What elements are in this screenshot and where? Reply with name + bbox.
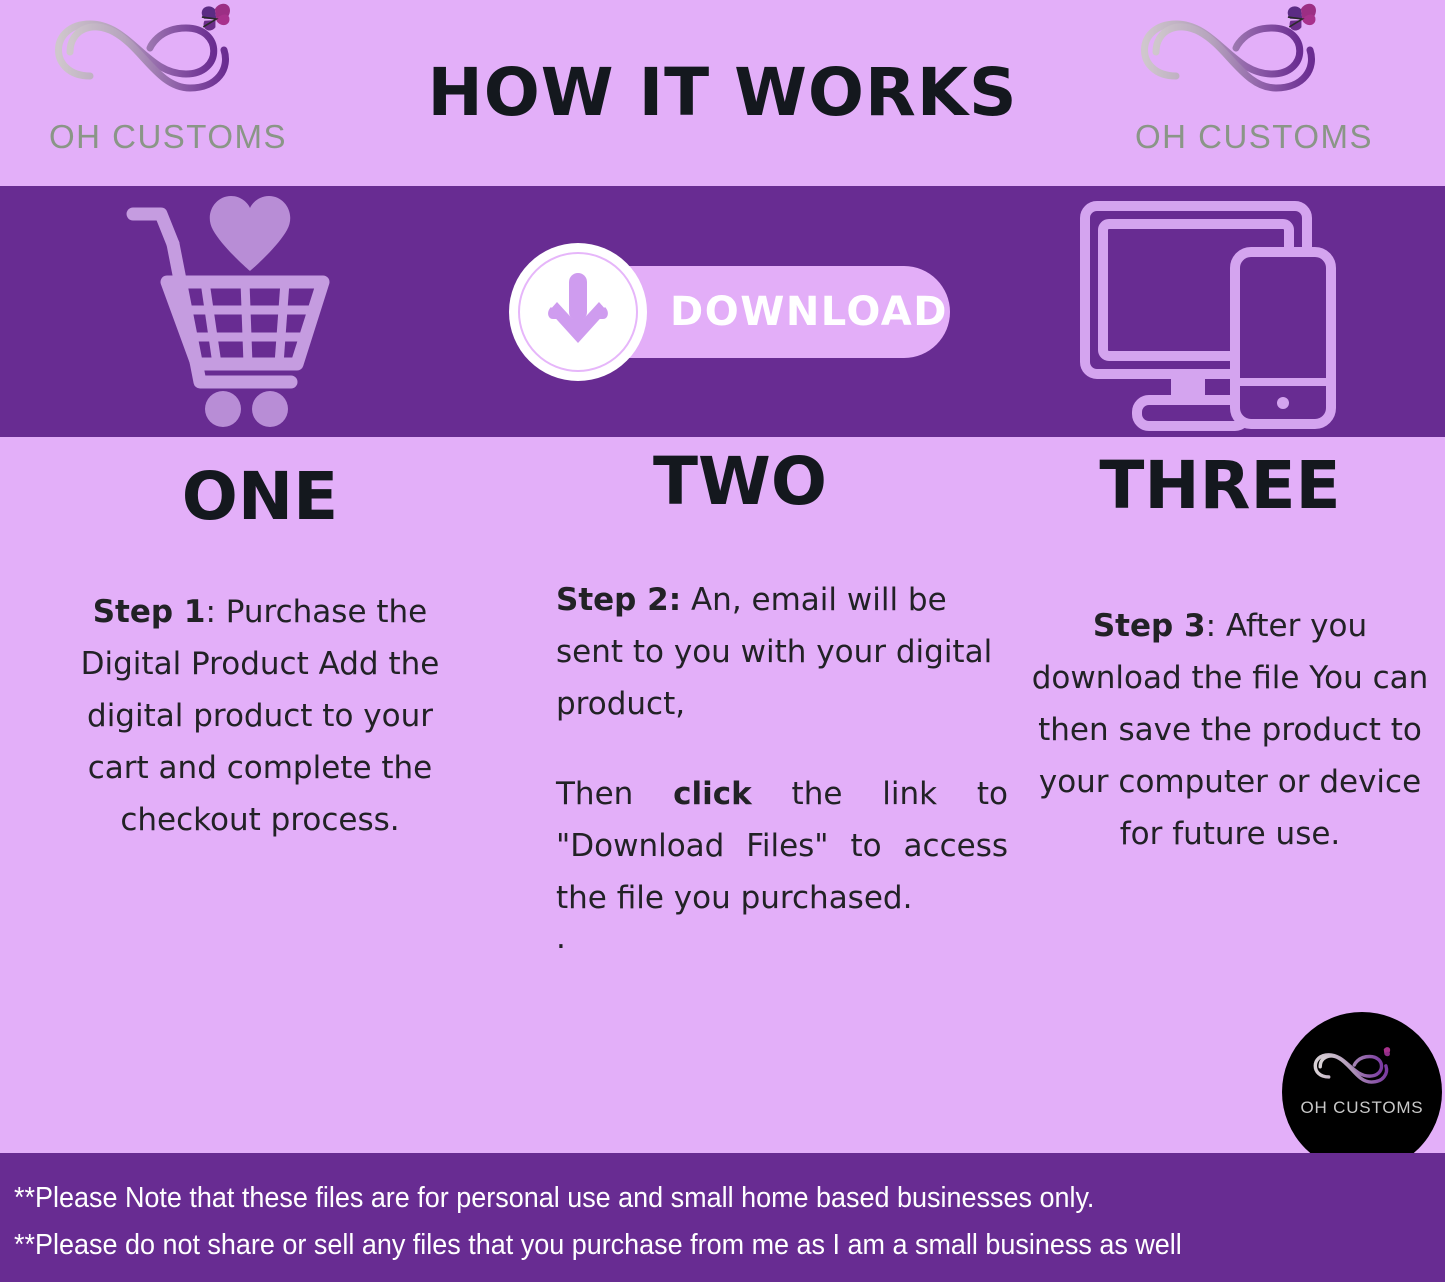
infinity-logo-icon bbox=[1104, 2, 1404, 122]
cart-icon-holder bbox=[105, 186, 395, 437]
infinity-logo-icon bbox=[1298, 1042, 1426, 1100]
step-one-body: Step 1: Purchase the Digital Product Add… bbox=[55, 586, 465, 846]
step-three-label: Step 3 bbox=[1093, 608, 1206, 644]
step-three-body: Step 3: After you download the file You … bbox=[1030, 600, 1430, 860]
footer-note-line-2: **Please do not share or sell any files … bbox=[14, 1229, 1335, 1262]
step-three-text: : After you download the file You can th… bbox=[1032, 608, 1429, 852]
step-two-trailing-dot: . bbox=[556, 920, 566, 956]
step-number-two: TWO bbox=[540, 443, 940, 520]
shopping-cart-heart-icon bbox=[105, 186, 395, 437]
header-band: OH CUSTOMS HOW IT WORKS bbox=[0, 0, 1445, 186]
footer-band: **Please Note that these files are for p… bbox=[0, 1153, 1445, 1282]
step-two-label: Step 2: bbox=[556, 582, 681, 618]
step-one-text: : Purchase the Digital Product Add the d… bbox=[81, 594, 440, 838]
step-one-label: Step 1 bbox=[93, 594, 206, 630]
step-two-paragraph-three: . bbox=[556, 912, 1008, 964]
download-button-holder: DOWNLOAD bbox=[505, 186, 955, 437]
logo-right: OH CUSTOMS bbox=[1104, 2, 1404, 177]
step-two-para2-pre: Then bbox=[556, 776, 673, 812]
brand-badge: OH CUSTOMS bbox=[1282, 1012, 1442, 1172]
footer-note-line-1: **Please Note that these files are for p… bbox=[14, 1182, 1335, 1215]
step-two-paragraph-two: Then click the link to "Download Files" … bbox=[556, 768, 1008, 924]
download-arrow-icon bbox=[543, 271, 613, 353]
step-number-three: THREE bbox=[1020, 447, 1420, 524]
download-button-label: DOWNLOAD bbox=[670, 266, 940, 358]
badge-text: OH CUSTOMS bbox=[1282, 1098, 1442, 1118]
step-number-one: ONE bbox=[60, 458, 460, 535]
download-circle[interactable] bbox=[509, 243, 647, 381]
monitor-and-phone-icon bbox=[1075, 186, 1355, 437]
device-icon-holder bbox=[1075, 186, 1355, 437]
infographic-page: OH CUSTOMS HOW IT WORKS bbox=[0, 0, 1445, 1282]
step-two-click-emphasis: click bbox=[673, 776, 752, 812]
logo-right-text: OH CUSTOMS bbox=[1104, 118, 1404, 156]
step-two-paragraph-one: Step 2: An, email will be sent to you wi… bbox=[556, 574, 1008, 730]
icon-band: DOWNLOAD bbox=[0, 186, 1445, 437]
